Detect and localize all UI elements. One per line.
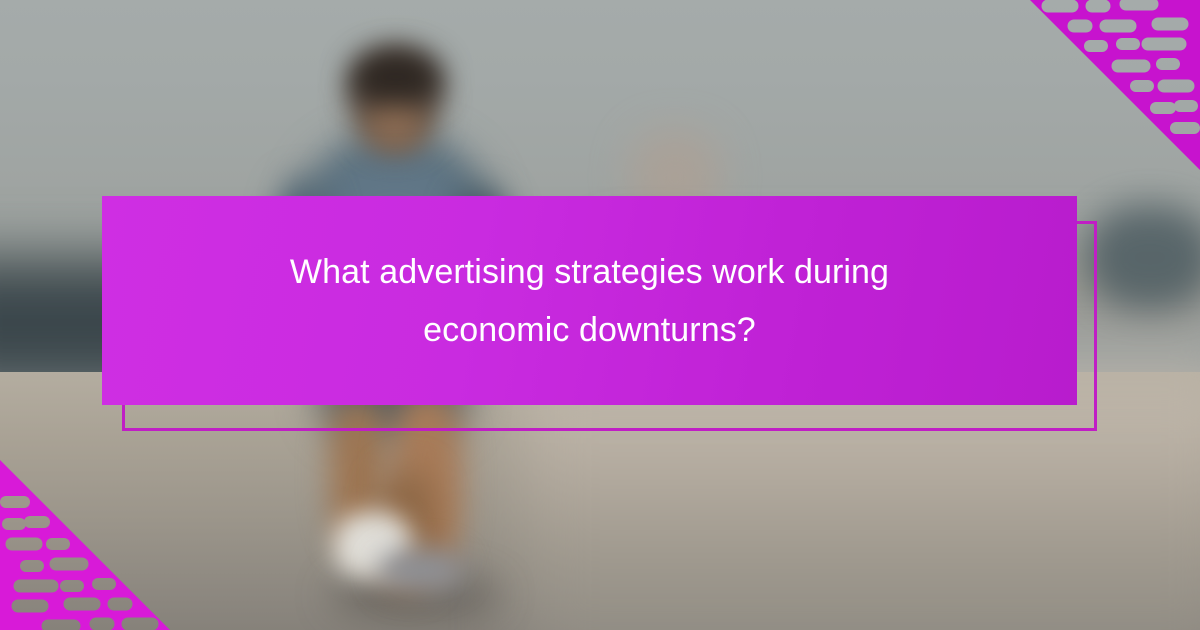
runner-hair	[350, 48, 442, 104]
page-title: What advertising strategies work during …	[240, 243, 940, 359]
background-blob-right	[1085, 205, 1200, 310]
runner-right-shoe	[378, 548, 464, 592]
headline-card: What advertising strategies work during …	[102, 196, 1077, 405]
social-card-canvas: What advertising strategies work during …	[0, 0, 1200, 630]
